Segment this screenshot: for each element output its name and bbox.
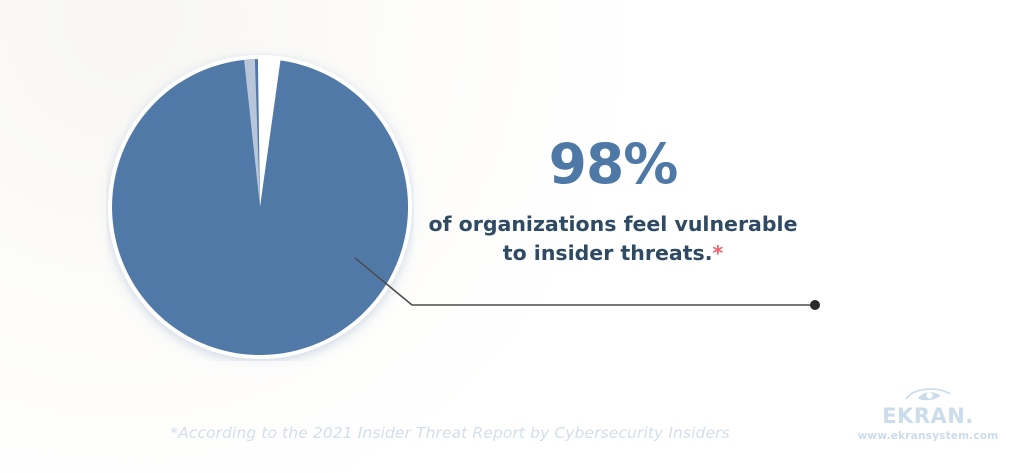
brand-logo[interactable]: EKRAN. www.ekransystem.com — [838, 386, 1018, 442]
infographic-canvas: 98% of organizations feel vulnerable to … — [0, 0, 1024, 473]
endpoint-dot-icon — [810, 300, 820, 310]
logo-website-url[interactable]: www.ekransystem.com — [838, 430, 1018, 442]
statistic-description-line-1: of organizations feel vulnerable — [408, 210, 818, 239]
statistic-description-line-2-text: to insider threats. — [503, 241, 713, 265]
footnote-marker-asterisk: * — [713, 241, 724, 265]
callout-block: 98% of organizations feel vulnerable to … — [408, 136, 818, 268]
eye-icon — [905, 386, 951, 403]
source-footnote: *According to the 2021 Insider Threat Re… — [0, 424, 900, 442]
statistic-description-line-2: to insider threats.* — [408, 239, 818, 268]
statistic-percentage: 98% — [408, 136, 818, 194]
logo-wordmark: EKRAN. — [838, 405, 1018, 427]
